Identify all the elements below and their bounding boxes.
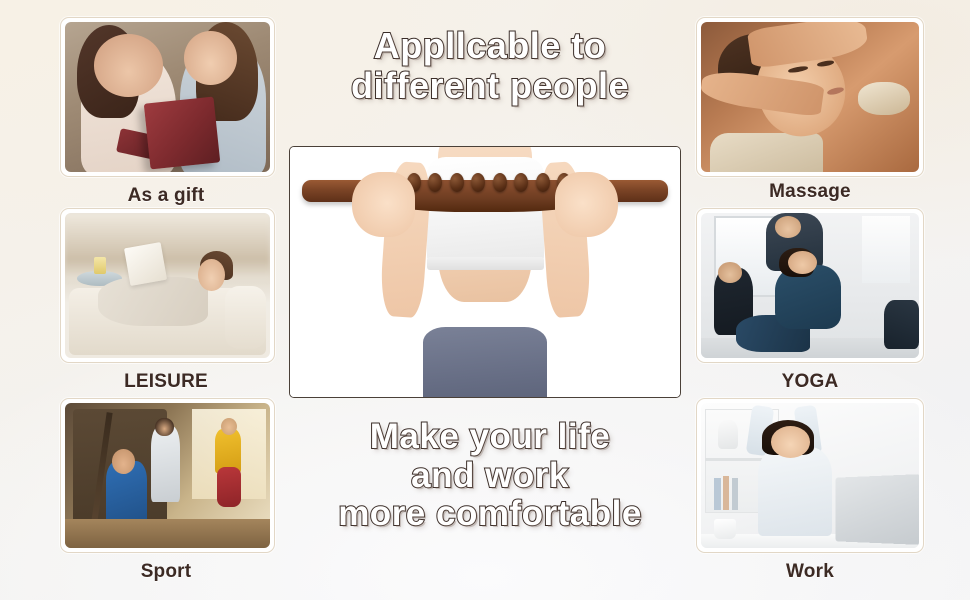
headline-bottom-line2: and work: [290, 457, 690, 496]
hero-product-image: [289, 146, 681, 398]
work-photo-backdrop: [701, 403, 919, 548]
massage-stick-bead: [450, 173, 464, 192]
tile-leisure: [60, 208, 275, 363]
tile-work: [696, 398, 924, 553]
sport-person-red-pants: [217, 467, 242, 508]
yoga-studio-window: [862, 216, 910, 283]
headline-bottom: Make your life and work more comfortable: [290, 418, 690, 534]
sport-person-left-head: [112, 449, 135, 474]
headline-top-line1: Appllcable to: [290, 26, 690, 66]
tile-sport-photo: [65, 403, 270, 548]
leisure-drink-glass: [94, 257, 106, 274]
tile-gift: [60, 17, 275, 177]
gift-photo-backdrop: [65, 22, 270, 172]
yoga-student-right-body: [884, 300, 919, 349]
yoga-student-left-head: [718, 262, 742, 282]
work-book: [732, 478, 739, 510]
tile-gift-photo: [65, 22, 270, 172]
work-book: [714, 478, 721, 510]
hero-photo-backdrop: [290, 147, 680, 397]
headline-top-line2: different people: [290, 66, 690, 106]
work-coffee-mug: [714, 519, 736, 539]
work-woman-face: [771, 426, 810, 458]
work-vase: [718, 420, 738, 449]
sport-gym-floor: [65, 519, 270, 548]
tile-yoga: [696, 208, 924, 363]
hero-model-leggings: [423, 327, 548, 398]
yoga-student-center-head: [788, 251, 816, 274]
sport-photo-backdrop: [65, 403, 270, 548]
tile-work-photo: [701, 403, 919, 548]
tile-caption-sport: Sport: [48, 561, 284, 583]
sport-person-center-head: [155, 418, 173, 437]
massage-pillow: [858, 82, 910, 115]
tile-caption-yoga: YOGA: [688, 371, 932, 393]
massage-stick-bead: [493, 173, 507, 192]
tile-caption-leisure: LEISURE: [48, 371, 284, 393]
tile-leisure-photo: [65, 213, 270, 358]
massage-stick-bead: [536, 173, 550, 192]
leisure-book: [124, 242, 167, 286]
product-infographic-poster: Appllcable to different people: [0, 0, 970, 600]
headline-bottom-line3: more comfortable: [290, 495, 690, 534]
tile-massage: [696, 17, 924, 177]
sport-person-right-head: [221, 418, 237, 435]
massage-photo-backdrop: [701, 22, 919, 172]
hero-model-bra-band: [427, 257, 544, 270]
yoga-photo-backdrop: [701, 213, 919, 358]
tile-caption-massage: Massage: [688, 181, 932, 203]
massage-towel: [710, 133, 823, 172]
tile-caption-gift: As a gift: [48, 185, 284, 207]
leisure-woman-face: [198, 259, 225, 291]
tile-yoga-photo: [701, 213, 919, 358]
gift-box: [144, 97, 220, 170]
gift-woman-right-face: [184, 31, 237, 85]
leisure-photo-backdrop: [65, 213, 270, 358]
tile-caption-work: Work: [688, 561, 932, 583]
hero-model-sports-bra: [427, 157, 544, 267]
work-book: [723, 476, 730, 511]
leisure-woman-body: [98, 277, 209, 326]
leisure-sofa-armrest: [225, 286, 266, 350]
hero-model-right-hand: [555, 172, 617, 237]
yoga-instructor-head: [775, 216, 801, 238]
sport-person-gray-top: [151, 426, 180, 501]
work-laptop: [835, 474, 919, 544]
tile-sport: [60, 398, 275, 553]
headline-bottom-line1: Make your life: [290, 418, 690, 457]
tile-massage-photo: [701, 22, 919, 172]
headline-top: Appllcable to different people: [290, 26, 690, 105]
hero-model-left-hand: [352, 172, 414, 237]
gift-woman-left-face: [94, 34, 164, 97]
work-woman-body: [758, 447, 832, 537]
